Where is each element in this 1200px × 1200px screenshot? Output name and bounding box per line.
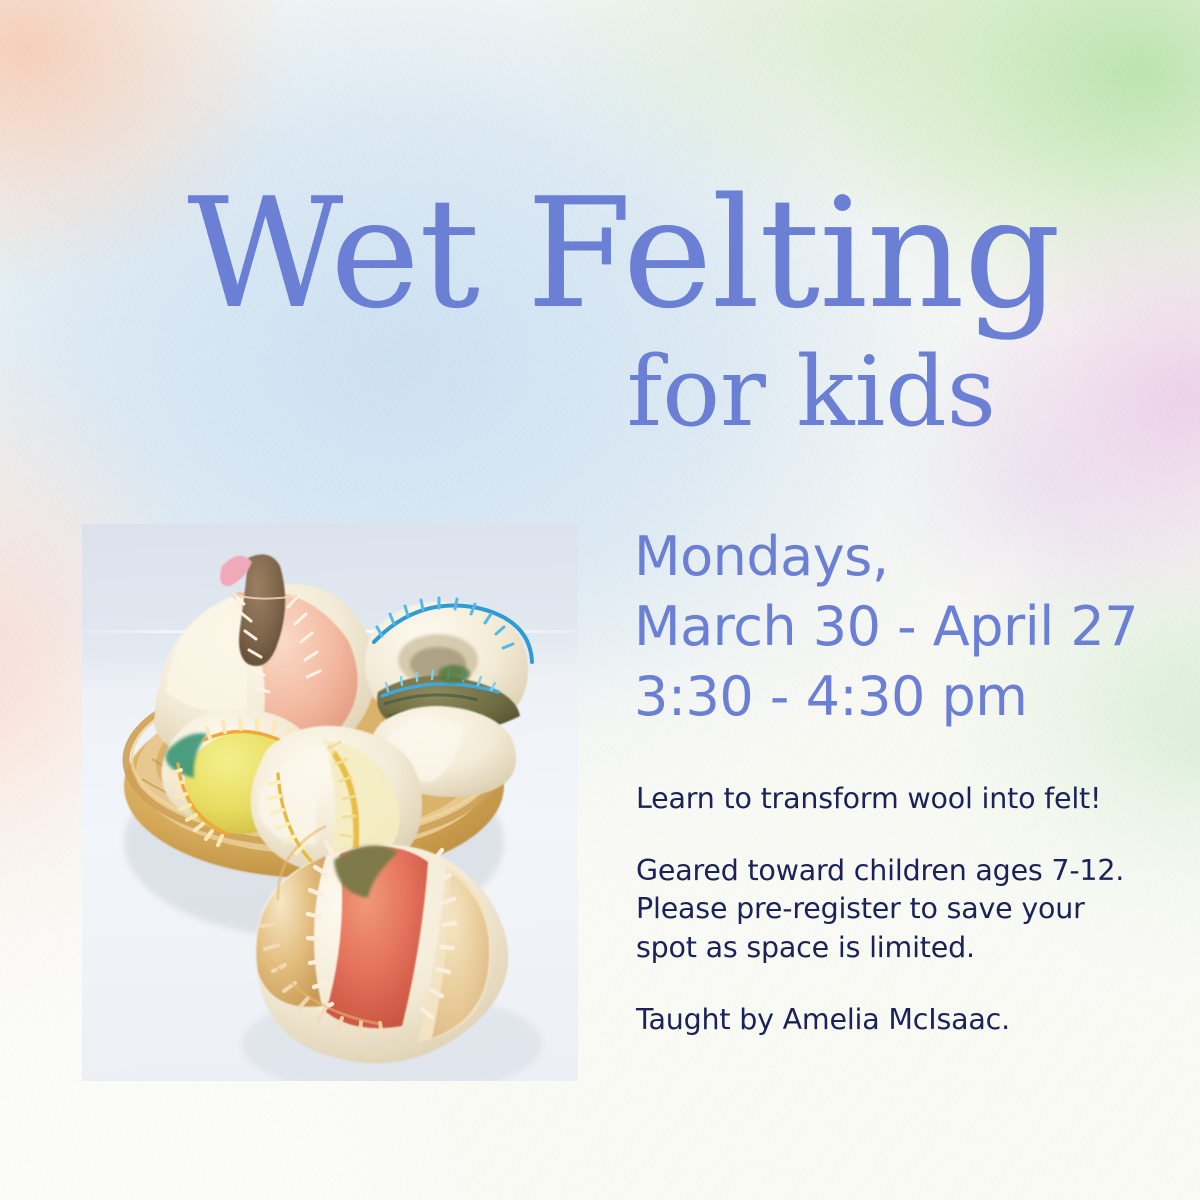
schedule-line-times: 3:30 - 4:30 pm	[634, 662, 1164, 732]
instructor-paragraph: Taught by Amelia McIsaac.	[636, 1001, 1176, 1039]
instructor-text: Taught by Amelia McIsaac.	[636, 1001, 1176, 1039]
schedule-line-days: Mondays,	[634, 522, 1164, 592]
tagline-text: Learn to transform wool into felt!	[636, 780, 1176, 818]
audience-line-1: Geared toward children ages 7-12.	[636, 852, 1176, 890]
description-block: Learn to transform wool into felt! Geare…	[636, 780, 1176, 1039]
felting-photo	[82, 524, 578, 1081]
felted-objects-illustration	[82, 524, 578, 1081]
page-title: Wet Felting	[0, 178, 1060, 330]
audience-line-2: Please pre-register to save your	[636, 890, 1176, 928]
page-subtitle: for kids	[0, 344, 1060, 440]
audience-paragraph: Geared toward children ages 7-12. Please…	[636, 852, 1176, 967]
schedule-block: Mondays, March 30 - April 27 3:30 - 4:30…	[634, 522, 1164, 733]
schedule-line-dates: March 30 - April 27	[634, 592, 1164, 662]
poster-title-block: Wet Felting for kids	[0, 178, 1060, 440]
poster-canvas: Wet Felting for kids	[0, 0, 1200, 1200]
audience-line-3: spot as space is limited.	[636, 929, 1176, 967]
tagline-paragraph: Learn to transform wool into felt!	[636, 780, 1176, 818]
